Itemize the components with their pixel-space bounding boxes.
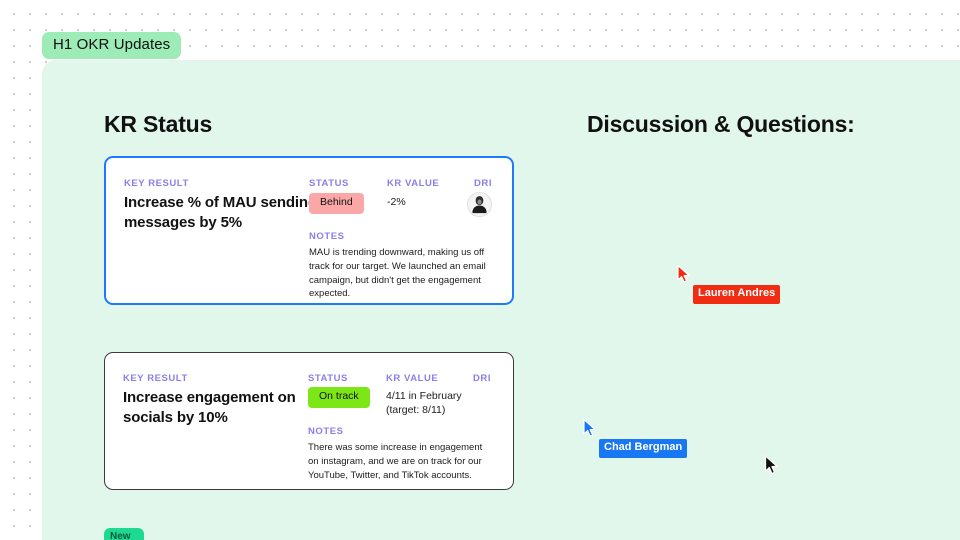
okr-frame[interactable]: KR Status Discussion & Questions: KEY RE… [42, 60, 960, 540]
cursor-pointer-icon [676, 264, 692, 284]
discussion-heading: Discussion & Questions: [587, 111, 855, 138]
column-label-notes-1: NOTES [309, 231, 344, 242]
system-mouse-cursor [764, 455, 779, 481]
kr-card-1-title: Increase % of MAU sending messages by 5% [124, 193, 319, 233]
kr-card-1-dri-avatar[interactable] [467, 192, 492, 217]
arrow-cursor-icon [764, 455, 779, 476]
column-label-dri: DRI [474, 178, 492, 189]
collaborator-label-chad: Chad Bergman [599, 439, 687, 458]
column-label-kr-value: KR VALUE [387, 178, 439, 189]
column-label-key-result: KEY RESULT [124, 178, 189, 189]
partial-status-chip-label: New [110, 531, 131, 540]
kr-card-2-value: 4/11 in February (target: 8/11) [386, 389, 462, 417]
kr-card-1[interactable]: KEY RESULT Increase % of MAU sending mes… [104, 156, 514, 305]
kr-card-2[interactable]: KEY RESULT Increase engagement on social… [104, 352, 514, 490]
kr-card-2-title: Increase engagement on socials by 10% [123, 388, 318, 428]
cursor-pointer-icon [582, 418, 598, 438]
collaborator-label-lauren: Lauren Andres [693, 285, 780, 304]
column-label-status: STATUS [308, 373, 348, 384]
kr-card-2-notes: There was some increase in engagement on… [308, 441, 490, 482]
kr-card-1-notes: MAU is trending downward, making us off … [309, 246, 491, 301]
partial-status-chip[interactable]: New [104, 528, 144, 540]
column-label-kr-value: KR VALUE [386, 373, 438, 384]
frame-title-chip[interactable]: H1 OKR Updates [42, 32, 181, 59]
column-label-status: STATUS [309, 178, 349, 189]
kr-status-heading: KR Status [104, 111, 212, 138]
user-avatar-icon [468, 193, 491, 216]
column-label-dri: DRI [473, 373, 491, 384]
column-label-notes-2: NOTES [308, 426, 343, 437]
figjam-canvas[interactable]: H1 OKR Updates KR Status Discussion & Qu… [0, 0, 960, 540]
kr-card-1-value: -2% [387, 195, 406, 209]
column-label-key-result: KEY RESULT [123, 373, 188, 384]
kr-card-2-status-badge[interactable]: On track [308, 387, 370, 408]
kr-card-1-status-badge[interactable]: Behind [309, 193, 364, 214]
